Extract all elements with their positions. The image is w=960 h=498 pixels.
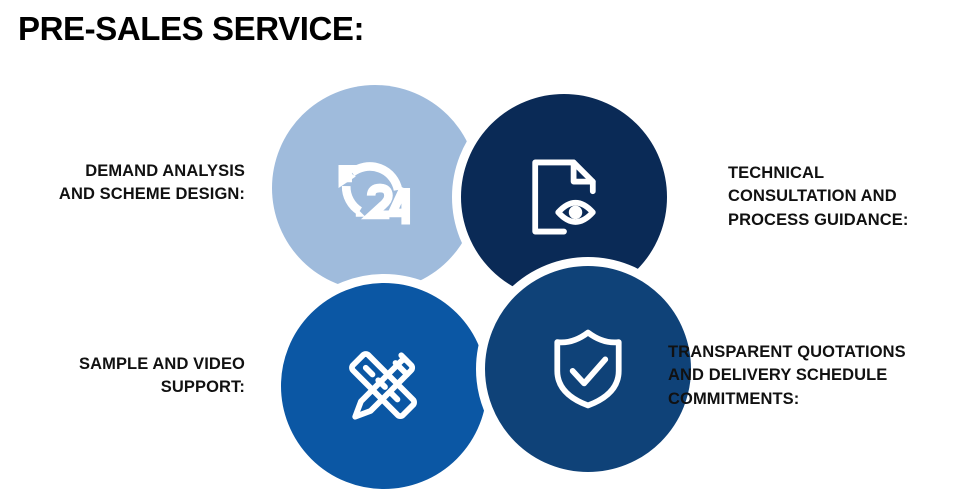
pencil-ruler-cross-icon [336, 338, 432, 434]
circle-demand-analysis[interactable] [272, 85, 478, 291]
label-sample-and-video-support: SAMPLE AND VIDEO SUPPORT: [0, 353, 245, 400]
label-technical-consultation: TECHNICAL CONSULTATION AND PROCESS GUIDA… [728, 162, 956, 232]
circle-transparent-quotations[interactable] [476, 257, 700, 481]
document-eye-review-icon [516, 149, 612, 245]
label-transparent-quotations: TRANSPARENT QUOTATIONS AND DELIVERY SCHE… [668, 341, 960, 411]
shield-check-icon [540, 321, 636, 417]
circle-sample-and-video-support[interactable] [272, 274, 496, 498]
pre-sales-service-diagram: DEMAND ANALYSIS AND SCHEME DESIGN: TECHN… [0, 0, 960, 498]
clock-24-rotate-icon [327, 140, 423, 236]
label-demand-analysis: DEMAND ANALYSIS AND SCHEME DESIGN: [0, 160, 245, 207]
